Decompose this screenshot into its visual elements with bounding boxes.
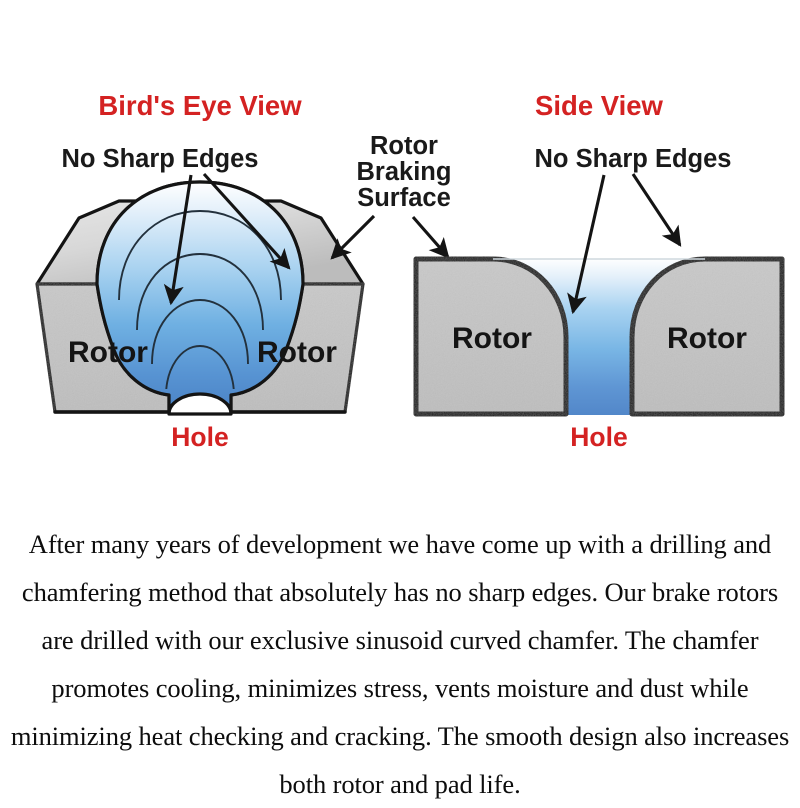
left-no-sharp-edges-label: No Sharp Edges: [62, 145, 259, 173]
right-hole-label: Hole: [570, 422, 627, 452]
rotor-braking-surface-label-line-2: Braking: [357, 158, 452, 186]
rotor-braking-surface-label-line-1: Rotor: [370, 132, 438, 160]
birds-eye-view-title: Bird's Eye View: [98, 90, 302, 121]
side-view-diagram: Side View No Sharp Edges Hole Rotor Roto…: [415, 90, 783, 452]
side-view-rotor-label-right: Rotor: [667, 322, 747, 355]
left-hole-label: Hole: [171, 422, 228, 452]
rotor-braking-surface-arrow-left: [332, 216, 374, 258]
page-root: Bird's Eye View No Sharp Edges Rotor Bra…: [0, 0, 800, 800]
caption-block: After many years of development we have …: [0, 520, 800, 808]
side-view-rotor-label-left: Rotor: [452, 322, 532, 355]
left-rotor-label-right: Rotor: [257, 336, 337, 369]
right-no-sharp-edges-arrow-2: [633, 174, 680, 245]
rotor-braking-surface-label: Rotor Braking Surface: [357, 132, 452, 212]
left-rotor-label-left: Rotor: [68, 336, 148, 369]
rotor-chamfer-illustration: Bird's Eye View No Sharp Edges Rotor Bra…: [0, 0, 800, 470]
right-no-sharp-edges-label: No Sharp Edges: [535, 145, 732, 173]
caption-paragraph: After many years of development we have …: [0, 520, 800, 808]
rotor-braking-surface-label-line-3: Surface: [357, 184, 451, 212]
side-view-title: Side View: [535, 90, 663, 121]
birds-eye-view-diagram: Bird's Eye View No Sharp Edges Rotor Bra…: [37, 90, 451, 452]
diagram-area: Bird's Eye View No Sharp Edges Rotor Bra…: [0, 0, 800, 470]
rotor-braking-surface-arrow-right: [413, 217, 448, 257]
